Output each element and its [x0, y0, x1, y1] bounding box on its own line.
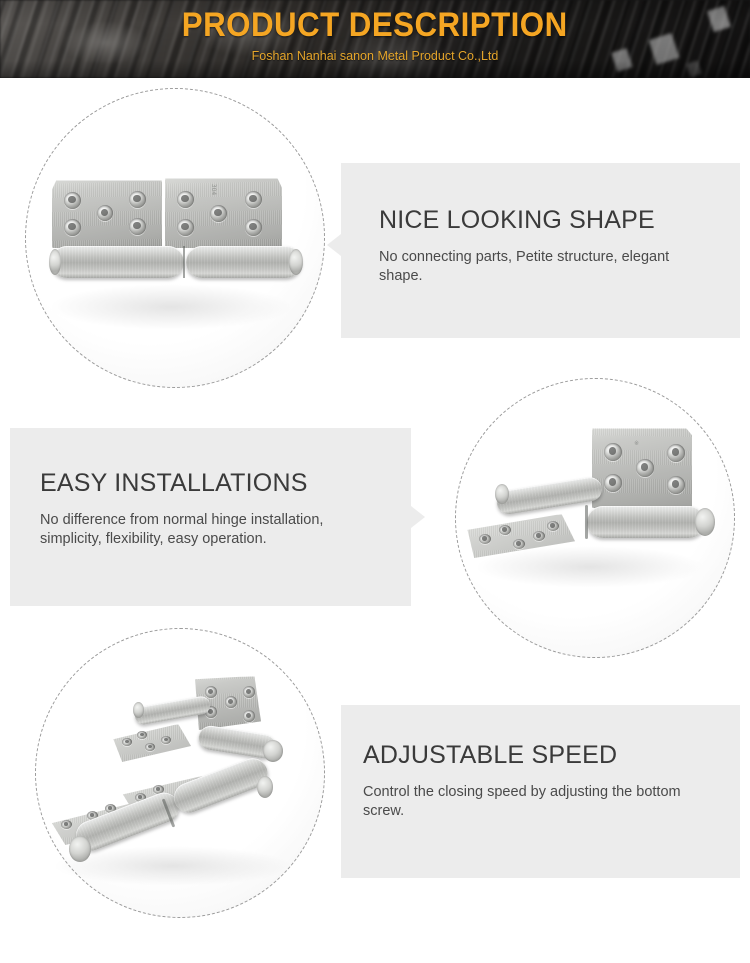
- screw-hole: [122, 738, 132, 746]
- barrel-end-cap: [257, 776, 273, 798]
- screw-hole: [499, 525, 511, 535]
- company-name: Foshan Nanhai sanon Metal Product Co.,Lt…: [252, 48, 499, 64]
- barrel-end-cap: [49, 249, 61, 275]
- screw-hole: [210, 205, 227, 222]
- screw-hole: [243, 686, 255, 698]
- feature-title: ADJUSTABLE SPEED: [363, 740, 703, 770]
- barrel-end-cap: [133, 702, 144, 718]
- screw-hole: [513, 539, 525, 549]
- screw-hole: [533, 531, 545, 541]
- feature-body: Control the closing speed by adjusting t…: [363, 783, 703, 821]
- feature-panel-adjustable-speed: ADJUSTABLE SPEED Control the closing spe…: [341, 705, 740, 878]
- hinge-barrel-front: [587, 506, 705, 538]
- panel-arrow-nice-looking-shape: [327, 234, 341, 256]
- hinge-barrel-right: [186, 246, 302, 278]
- screw-hole: [225, 696, 237, 708]
- hinge-barrel-left: [51, 246, 184, 278]
- screw-hole: [636, 459, 654, 477]
- screw-hole: [604, 474, 622, 492]
- screw-hole: [245, 191, 262, 208]
- screw-hole: [64, 192, 81, 209]
- screw-hole: [205, 686, 217, 698]
- screw-hole: [64, 219, 81, 236]
- screw-hole: [479, 534, 491, 544]
- barrel-end-cap: [69, 836, 91, 862]
- photo-shadow: [49, 284, 293, 330]
- page-title: PRODUCT DESCRIPTION: [182, 6, 568, 44]
- screw-hole: [145, 743, 155, 751]
- barrel-end-cap: [495, 484, 509, 504]
- barrel-seam: [183, 246, 185, 278]
- barrel-end-cap: [289, 249, 303, 275]
- feature-panel-easy-installations: EASY INSTALLATIONS No difference from no…: [10, 428, 411, 606]
- header-banner: PRODUCT DESCRIPTION Foshan Nanhai sanon …: [0, 0, 750, 78]
- screw-hole: [129, 218, 146, 235]
- barrel-seam: [585, 505, 588, 539]
- screw-hole: [604, 443, 622, 461]
- feature-panel-nice-looking-shape: NICE LOOKING SHAPE No connecting parts, …: [341, 163, 740, 338]
- screw-hole: [667, 476, 685, 494]
- feature-body: No connecting parts, Petite structure, e…: [379, 248, 699, 286]
- feature-title: NICE LOOKING SHAPE: [379, 205, 699, 235]
- screw-hole: [61, 820, 72, 829]
- product-photo-nice-looking-shape: 304: [25, 88, 325, 388]
- screw-hole: [667, 444, 685, 462]
- screw-hole: [161, 736, 171, 744]
- screw-hole: [177, 191, 194, 208]
- product-photo-easy-installations: ※: [455, 378, 735, 658]
- screw-hole: [129, 191, 146, 208]
- screw-hole: [177, 219, 194, 236]
- screw-hole: [137, 731, 147, 739]
- feature-title: EASY INSTALLATIONS: [40, 468, 385, 498]
- grade-marking: ※: [634, 440, 639, 447]
- panel-arrow-easy-installations: [411, 506, 425, 528]
- screw-hole: [243, 710, 255, 722]
- barrel-end-cap: [263, 740, 283, 762]
- screw-hole: [547, 521, 559, 531]
- screw-hole: [245, 219, 262, 236]
- screw-hole: [97, 205, 113, 221]
- feature-body: No difference from normal hinge installa…: [40, 511, 385, 549]
- product-photo-adjustable-speed: [35, 628, 325, 918]
- grade-marking: 304: [210, 184, 217, 195]
- barrel-end-cap: [695, 508, 715, 536]
- photo-shadow: [475, 546, 705, 588]
